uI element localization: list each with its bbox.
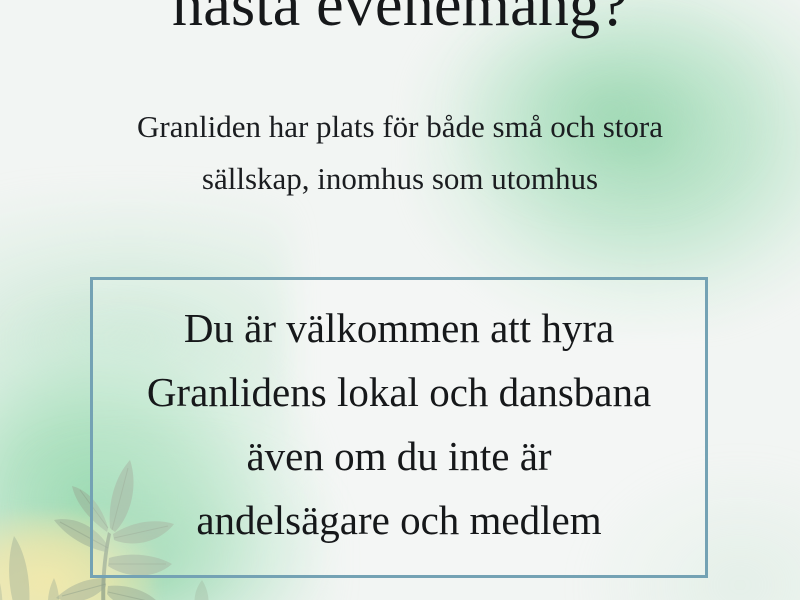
- callout-line-3: även om du inte är: [93, 424, 705, 488]
- page-title: nästa evenemang?: [0, 0, 800, 36]
- callout-box: Du är välkommen att hyra Granlidens loka…: [90, 277, 708, 578]
- subtitle: Granliden har plats för både små och sto…: [0, 101, 800, 205]
- callout-line-2: Granlidens lokal och dansbana: [93, 360, 705, 424]
- callout-text: Du är välkommen att hyra Granlidens loka…: [93, 296, 705, 552]
- subtitle-line-1: Granliden har plats för både små och sto…: [0, 101, 800, 153]
- callout-line-1: Du är välkommen att hyra: [93, 296, 705, 360]
- subtitle-line-2: sällskap, inomhus som utomhus: [0, 153, 800, 205]
- callout-line-4: andelsägare och medlem: [93, 488, 705, 552]
- slide-canvas: nästa evenemang? Granliden har plats för…: [0, 0, 800, 600]
